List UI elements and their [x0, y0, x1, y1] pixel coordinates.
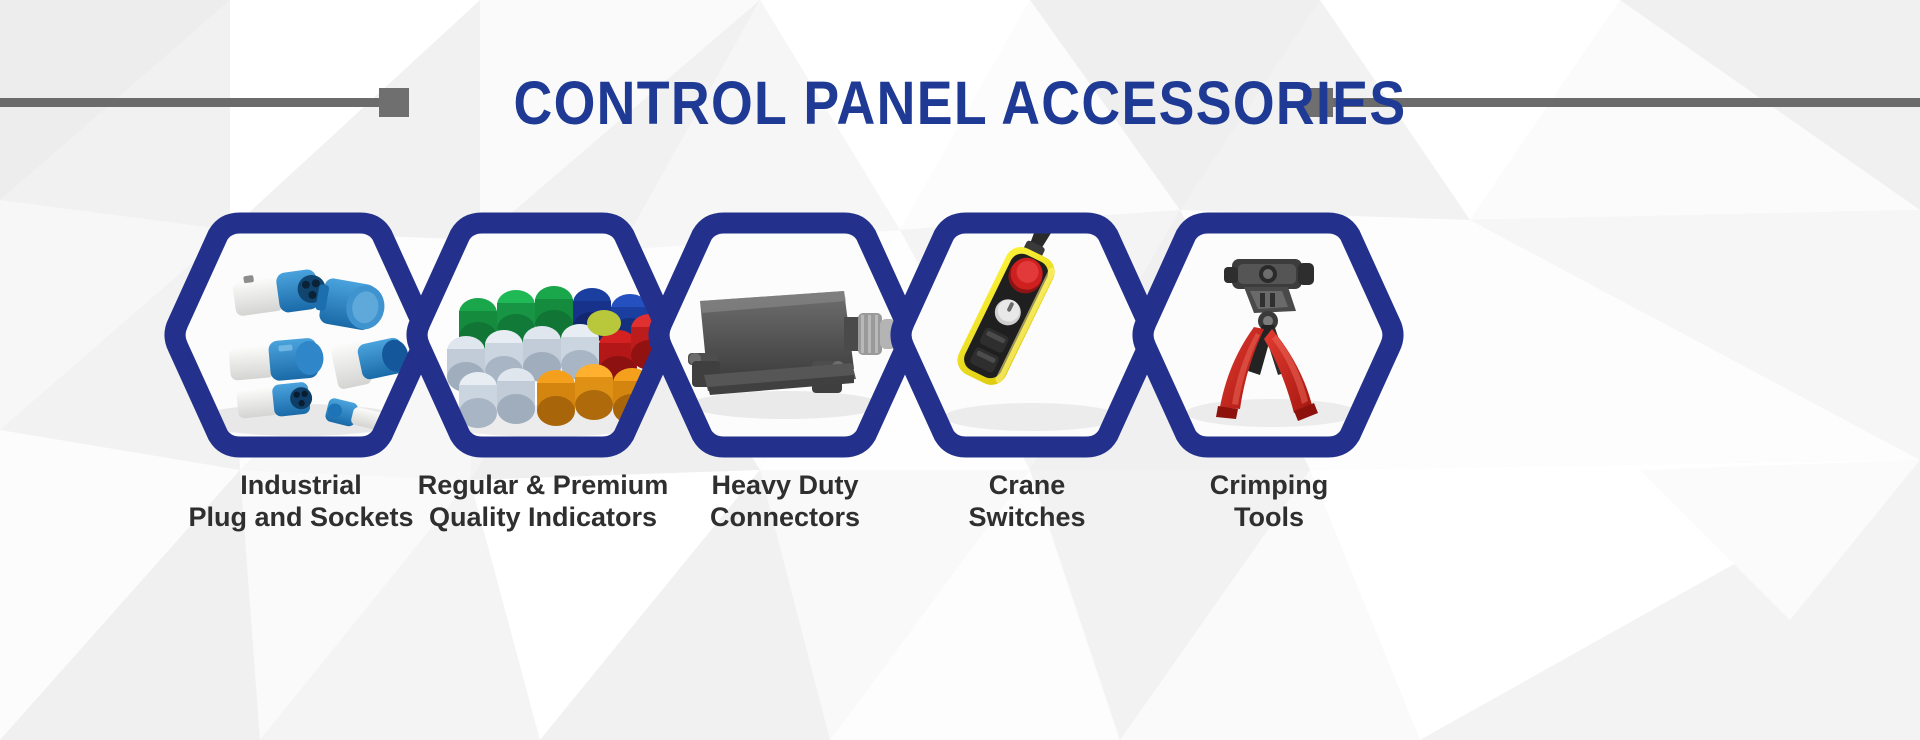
page-title: CONTROL PANEL ACCESSORIES — [115, 68, 1805, 138]
category-hexagon-row — [0, 205, 1920, 465]
hexagon-cell-crimping-tools[interactable] — [1138, 215, 1400, 455]
label-line-2: Tools — [1104, 502, 1434, 534]
banner-stage: CONTROL PANEL ACCESSORIES — [0, 0, 1920, 740]
hexagon-cell-heavy-duty-connectors[interactable] — [654, 215, 916, 455]
hexagon-cell-crane-switches[interactable] — [896, 205, 1158, 455]
hexagon-cell-regular-premium-quality-indicators[interactable] — [412, 215, 674, 455]
hexagon-cell-industrial-plug-and-sockets[interactable] — [170, 215, 432, 455]
category-label-crimping-tools: Crimping Tools — [1104, 470, 1434, 534]
title-band: CONTROL PANEL ACCESSORIES — [0, 62, 1920, 142]
label-line-1: Crimping — [1104, 470, 1434, 502]
